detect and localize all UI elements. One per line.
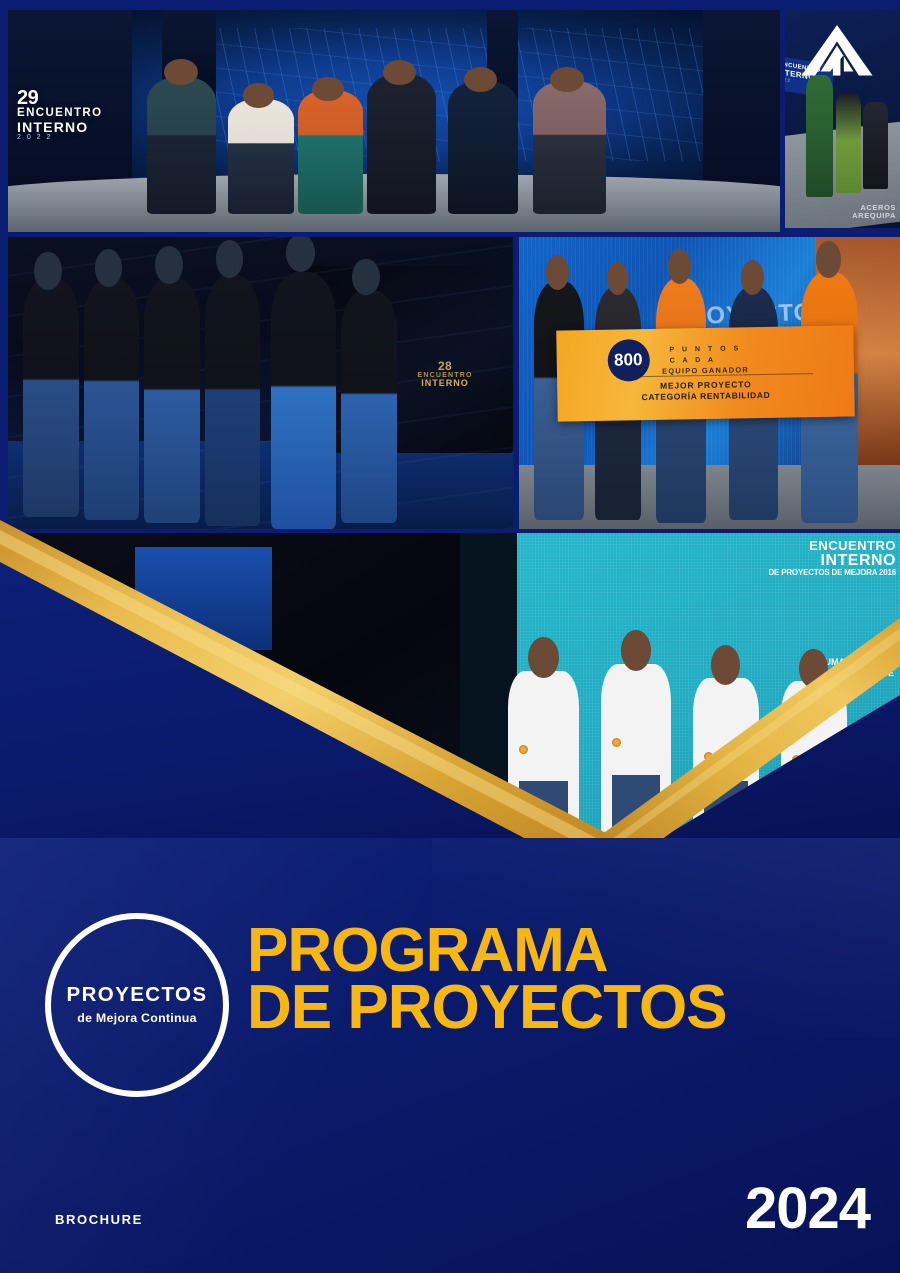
signage-line1: ENCUENTRO xyxy=(17,108,102,120)
photo-top-left-awards: 29 ENCUENTRO INTERNO 2 0 2 2 xyxy=(8,10,780,232)
award-banner: 800 P U N T O S C A D A EQUIPO GANADOR M… xyxy=(556,325,855,421)
points-word1: P U N T O S xyxy=(670,343,742,355)
title-line-1: PROGRAMA xyxy=(247,922,727,979)
event-signage-29: 29 ENCUENTRO INTERNO 2 0 2 2 xyxy=(17,88,102,141)
floor-brand-text: ACEROS AREQUIPA xyxy=(852,204,896,220)
brochure-cover-page: 29 ENCUENTRO INTERNO 2 0 2 2 ENCUENTRO xyxy=(0,0,900,1273)
year-label: 2024 xyxy=(745,1180,870,1238)
page-title: PROGRAMA DE PROYECTOS xyxy=(247,922,727,1036)
floor-text-line2: AREQUIPA xyxy=(852,212,896,220)
proyectos-logo-badge: PROYECTOS de Mejora Continua xyxy=(45,913,229,1097)
signage-line2: INTERNO xyxy=(17,120,102,134)
logo-secondary-text: de Mejora Continua xyxy=(77,1011,196,1025)
signage-number: 29 xyxy=(17,88,102,108)
logo-primary-text: PROYECTOS xyxy=(67,985,208,1006)
photo-middle-right-award-banner: PROYECTOS 800 P U N T O S C A D A EQUIPO… xyxy=(519,237,900,529)
aceros-arequipa-aa-logo-icon xyxy=(796,22,878,84)
photo-middle-left-masked-team: 28 ENCUENTRO INTERNO xyxy=(8,237,513,529)
brochure-label: BROCHURE xyxy=(55,1212,143,1227)
title-line-2: DE PROYECTOS xyxy=(247,979,727,1036)
points-words: P U N T O S C A D A xyxy=(670,343,742,367)
